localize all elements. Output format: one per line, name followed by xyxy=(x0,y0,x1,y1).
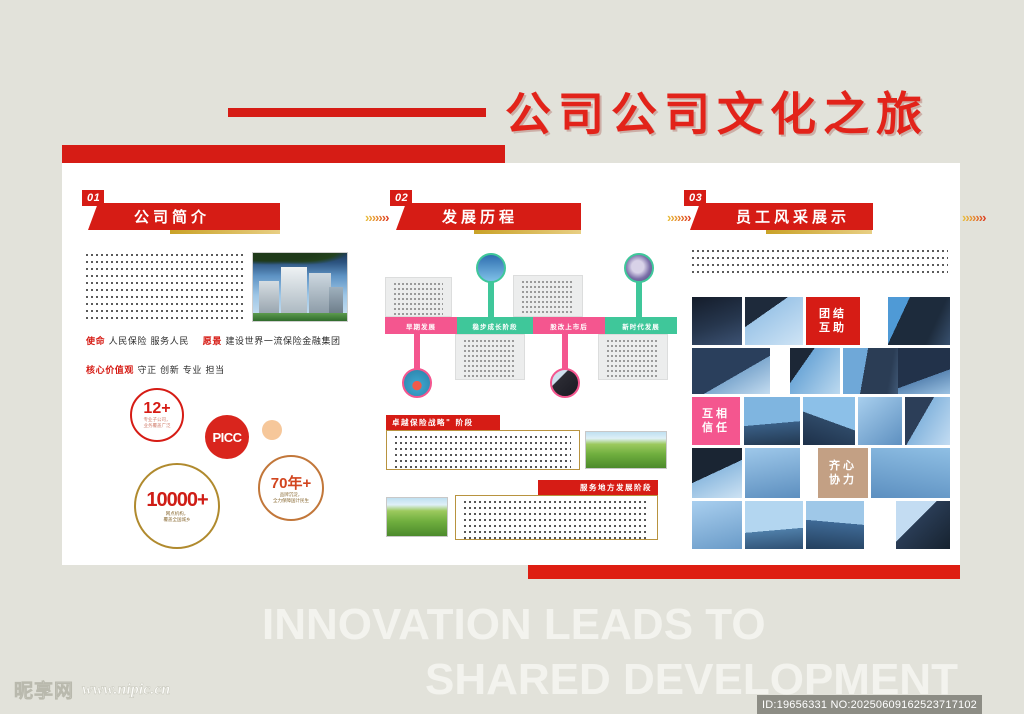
stat-caption: 专业子公司，业务覆盖广泛 xyxy=(144,418,171,430)
timeline-stem-2 xyxy=(488,282,494,318)
grassland-photo-1 xyxy=(585,431,667,469)
section-ribbon: 公司简介 xyxy=(88,203,280,230)
handshake-icon xyxy=(624,253,654,283)
id-tag: ID:19656331 NO:20250609162523717102 xyxy=(757,695,982,714)
flower-icon xyxy=(402,368,432,398)
timeline-card-4 xyxy=(598,334,668,380)
strategy-banner-box-1 xyxy=(386,430,580,470)
stat-number: 12+ xyxy=(143,400,170,418)
timeline-card-3 xyxy=(513,275,583,317)
mission-text: 人民保险 服务人民 xyxy=(109,337,189,347)
page-title: 公司公司文化之旅 xyxy=(505,88,929,140)
section-gold-underline xyxy=(474,230,581,234)
core-values-line: 核心价值观 守正 创新 专业 担当 xyxy=(86,363,225,376)
mission-vision-line: 使命 人民保险 服务人民 愿景 建设世界一流保险金融集团 xyxy=(86,334,341,347)
watermark: 昵享网 www.nipic.cn xyxy=(14,676,170,703)
stat-number: 10000+ xyxy=(146,489,207,512)
skyscraper-photo xyxy=(745,501,803,549)
strategy-banner-tag-2: 服务地方发展阶段 xyxy=(538,480,658,495)
header-rule xyxy=(228,108,486,117)
value-tile-unity: 团结互助 xyxy=(806,297,860,345)
skyscraper-photo xyxy=(806,501,864,549)
skyscraper-photo xyxy=(744,397,800,445)
section-gold-underline xyxy=(170,230,280,234)
section-chevrons: ››››››› xyxy=(365,210,388,225)
values-label: 核心价值观 xyxy=(86,366,134,376)
mission-label: 使命 xyxy=(86,337,105,347)
timeline-stage-label: 新时代发展 xyxy=(605,317,677,334)
tagline-line-1: INNOVATION LEADS TO xyxy=(262,600,766,650)
skyscraper-photo xyxy=(692,348,770,394)
grassland-photo-2 xyxy=(386,497,448,537)
timeline-stem-3 xyxy=(562,334,568,370)
profile-placeholder-text xyxy=(86,254,246,324)
office-building-photo xyxy=(252,252,348,322)
timeline-stage-label: 早期发展 xyxy=(385,317,457,334)
stat-circle-12: 12+ 专业子公司，业务覆盖广泛 xyxy=(130,388,184,442)
strategy-banner-box-2 xyxy=(455,495,658,540)
camera-icon xyxy=(550,368,580,398)
skyscraper-photo xyxy=(803,397,855,445)
staff-placeholder-text xyxy=(692,250,948,278)
timeline-stage-label: 股改上市后 xyxy=(533,317,605,334)
skyscraper-photo xyxy=(692,501,742,549)
section-label: 员工风采展示 xyxy=(690,206,864,227)
watermark-url: www.nipic.cn xyxy=(82,681,170,699)
skyscraper-photo xyxy=(692,297,742,345)
timeline-card-1 xyxy=(385,277,452,317)
skyscraper-photo xyxy=(745,297,803,345)
strategy-banner-tag-1: 卓越保险战略" 阶段 xyxy=(386,415,500,430)
section-gold-underline xyxy=(766,230,872,234)
value-tile-trust: 互相信任 xyxy=(692,397,740,445)
skyscraper-photo xyxy=(790,348,840,394)
skyscraper-photo xyxy=(905,397,950,445)
section-label: 公司简介 xyxy=(88,206,224,227)
stat-number: 70年+ xyxy=(271,472,311,493)
section-number: 01 xyxy=(82,190,104,206)
vision-text: 建设世界一流保险金融集团 xyxy=(225,337,340,347)
timeline-stage-bar-1: 早期发展 xyxy=(385,317,457,334)
value-tile-cooperation: 齐心协力 xyxy=(818,448,868,498)
skyscraper-photo xyxy=(692,448,742,498)
timeline-stage-label: 稳步成长阶段 xyxy=(457,317,533,334)
section-ribbon: 发展历程 xyxy=(396,203,581,230)
section-label: 发展历程 xyxy=(396,206,532,227)
stat-caption: 品牌沉淀，全力保障国计民生 xyxy=(273,493,309,505)
stat-caption: 网点机构，覆盖全国城乡 xyxy=(164,512,191,524)
decorative-dot xyxy=(262,420,282,440)
section-chevrons: ››››››› xyxy=(962,210,985,225)
skyscraper-photo xyxy=(898,348,950,394)
timeline-card-2 xyxy=(455,334,525,380)
skyscraper-photo xyxy=(896,501,950,549)
skyscraper-photo xyxy=(858,397,902,445)
values-text: 守正 创新 专业 担当 xyxy=(137,366,224,376)
timeline-stage-bar-3: 股改上市后 xyxy=(533,317,605,334)
chart-icon xyxy=(476,253,506,283)
vision-label: 愿景 xyxy=(203,337,222,347)
watermark-brand: 昵享网 xyxy=(14,676,74,703)
section-ribbon: 员工风采展示 xyxy=(690,203,873,230)
poster-canvas: 公司公司文化之旅 01 公司简介 ››››››› 使命 人民保险 服务人民 愿景… xyxy=(0,0,1024,714)
skyscraper-photo xyxy=(888,297,950,345)
timeline-stage-bar-2: 稳步成长阶段 xyxy=(457,317,533,334)
board-footer-bar xyxy=(528,565,960,579)
timeline-stage-bar-4: 新时代发展 xyxy=(605,317,677,334)
stat-circle-10000: 10000+ 网点机构，覆盖全国城乡 xyxy=(134,463,220,549)
skyscraper-photo xyxy=(843,348,901,394)
skyscraper-photo xyxy=(745,448,800,498)
section-chevrons: ››››››› xyxy=(667,210,690,225)
section-number: 02 xyxy=(390,190,412,206)
timeline-stem-4 xyxy=(636,282,642,318)
skyscraper-photo xyxy=(871,448,950,498)
stat-circle-70: 70年+ 品牌沉淀，全力保障国计民生 xyxy=(258,455,324,521)
timeline-stem-1 xyxy=(414,334,420,370)
header-red-bar xyxy=(62,145,505,163)
picc-logo: PICC xyxy=(205,415,249,459)
section-number: 03 xyxy=(684,190,706,206)
